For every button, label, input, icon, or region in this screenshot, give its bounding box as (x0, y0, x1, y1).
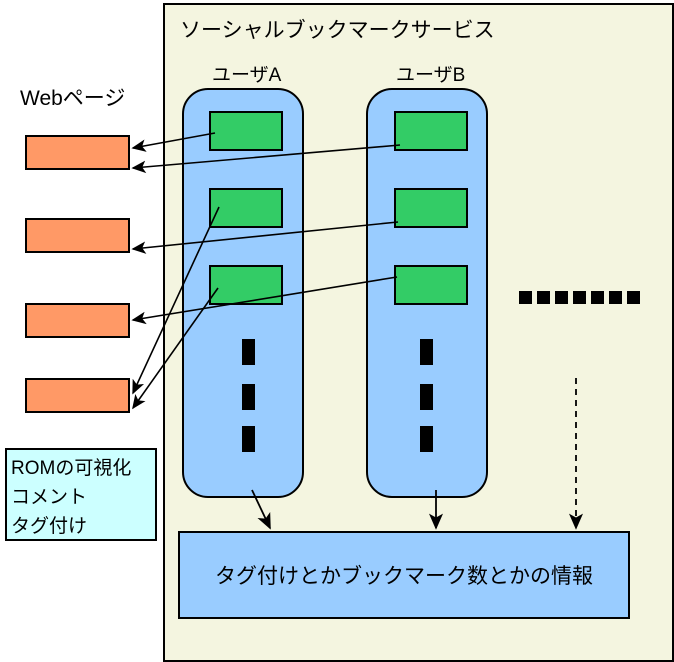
legend-line-1: ROMの可視化 (11, 454, 151, 483)
user-b-bookmark-card-1[interactable] (394, 111, 468, 151)
user-b-ellipsis-dot-1 (420, 339, 433, 365)
legend-box: ROMの可視化 コメント タグ付け (5, 448, 157, 541)
user-a-bookmark-card-2[interactable] (209, 188, 283, 228)
more-users-ellipsis-dot-5 (591, 291, 604, 304)
user-b-ellipsis-dot-2 (420, 384, 433, 410)
user-a-bookmark-card-1[interactable] (209, 111, 283, 151)
more-users-ellipsis-dot-7 (627, 291, 640, 304)
user-b-bookmark-card-2[interactable] (394, 188, 468, 228)
service-title: ソーシャルブックマークサービス (180, 14, 495, 44)
legend-line-3: タグ付け (11, 512, 151, 541)
web-page-box-1[interactable] (25, 135, 130, 170)
user-a-bookmark-card-3[interactable] (209, 265, 283, 305)
web-page-box-3[interactable] (25, 303, 130, 338)
user-b-bookmark-card-3[interactable] (394, 265, 468, 305)
more-users-ellipsis-dot-6 (609, 291, 622, 304)
web-pages-label: Webページ (20, 82, 125, 112)
web-page-box-2[interactable] (25, 218, 130, 253)
more-users-ellipsis-dot-2 (537, 291, 550, 304)
user-a-ellipsis-dot-1 (242, 339, 255, 365)
more-users-ellipsis-dot-1 (519, 291, 532, 304)
user-b-heading: ユーザB (396, 60, 465, 87)
aggregated-info-label: タグ付けとかブックマーク数とかの情報 (215, 560, 593, 590)
more-users-ellipsis-dot-4 (573, 291, 586, 304)
more-users-ellipsis-dot-3 (555, 291, 568, 304)
aggregated-info-box: タグ付けとかブックマーク数とかの情報 (178, 531, 630, 619)
user-a-heading: ユーザA (212, 60, 281, 87)
user-a-ellipsis-dot-3 (242, 426, 255, 452)
user-b-ellipsis-dot-3 (420, 426, 433, 452)
user-a-ellipsis-dot-2 (242, 384, 255, 410)
web-page-box-4[interactable] (25, 378, 130, 413)
legend-line-2: コメント (11, 483, 151, 512)
